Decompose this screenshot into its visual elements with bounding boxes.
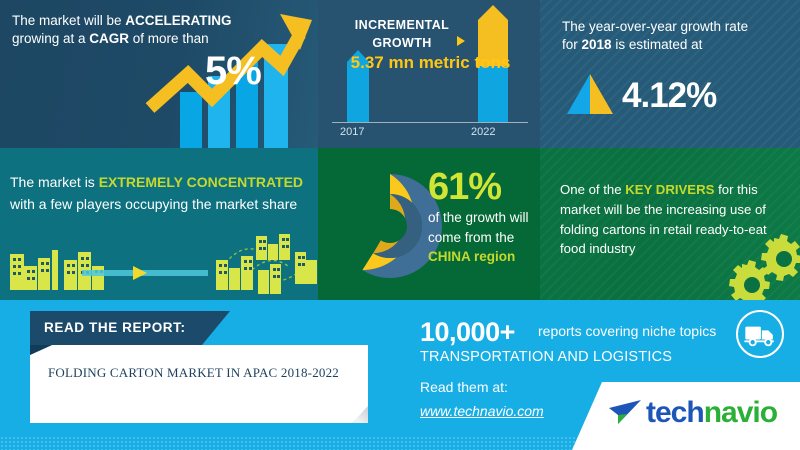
cagr-line1-pre: The market will be (12, 13, 125, 28)
logo-text-tech: tech (646, 396, 704, 429)
yoy-description: The year-over-year growth rate for 2018 … (562, 18, 790, 54)
incremental-axis-line (332, 122, 528, 123)
truck-icon (736, 310, 784, 358)
report-category: TRANSPORTATION AND LOGISTICS (420, 348, 672, 368)
panel-china-share: 61% of the growth will come from the CHI… (318, 148, 540, 300)
incremental-title-line1: INCREMENTAL (355, 18, 449, 32)
panel-cagr: The market will be ACCELERATING growing … (0, 0, 318, 148)
cagr-line1-bold: ACCELERATING (125, 13, 231, 28)
china-line1: of the growth will (428, 210, 529, 225)
yoy-line2-post: is estimated at (612, 37, 703, 52)
yoy-line2-bold: 2018 (582, 37, 612, 52)
incremental-end-year: 2022 (471, 126, 495, 138)
panel-yoy-growth: The year-over-year growth rate for 2018 … (540, 0, 800, 148)
cagr-description: The market will be ACCELERATING growing … (12, 12, 262, 48)
incremental-start-year: 2017 (340, 126, 364, 138)
yoy-line1: The year-over-year growth rate (562, 19, 748, 34)
incremental-title: INCREMENTAL GROWTH (332, 16, 472, 52)
cagr-value: 5% (205, 44, 261, 98)
transition-arrow-head (133, 266, 147, 280)
concentration-description: The market is EXTREMELY CONCENTRATED wit… (10, 172, 308, 215)
logo-text-navio: navio (704, 396, 777, 429)
yoy-line2-pre: for (562, 37, 582, 52)
panel-market-concentration: The market is EXTREMELY CONCENTRATED wit… (0, 148, 318, 300)
paper-plane-icon (608, 398, 642, 428)
concentration-pre: The market is (10, 174, 99, 190)
gears-icon (716, 232, 800, 300)
cagr-line2-bold: CAGR (89, 31, 129, 46)
triangle-marker-icon (457, 36, 465, 46)
website-link[interactable]: www.technavio.com (420, 402, 544, 421)
report-card[interactable] (30, 345, 368, 423)
driver-pre: One of the (560, 182, 625, 197)
donut-hole (373, 209, 407, 243)
incremental-title-line2: GROWTH (372, 36, 431, 50)
technavio-wordmark: technavio (646, 396, 777, 430)
reports-count: 10,000+ (420, 314, 515, 350)
cagr-line2-post: of more than (129, 31, 209, 46)
read-them-at-label: Read them at: (420, 378, 508, 397)
panel-footer: READ THE REPORT: FOLDING CARTON MARKET I… (0, 300, 800, 450)
growth-triangle-icon (567, 74, 613, 114)
technavio-logo[interactable]: technavio (608, 396, 777, 430)
china-line2: come from the (428, 230, 514, 245)
china-share-value: 61% (428, 162, 501, 213)
panel-key-drivers: One of the KEY DRIVERS for this market w… (540, 148, 800, 300)
ribbon-label: READ THE REPORT: (44, 319, 186, 337)
concentration-highlight: EXTREMELY CONCENTRATED (99, 174, 303, 190)
china-share-description: of the growth will come from the CHINA r… (428, 208, 540, 267)
driver-highlight: KEY DRIVERS (625, 182, 714, 197)
concentration-post: with a few players occupying the market … (10, 196, 297, 212)
panel-incremental-growth: INCREMENTAL GROWTH 5.37 mn metric tons 2… (318, 0, 540, 148)
yoy-value: 4.12% (622, 72, 716, 119)
infographic-canvas: The market will be ACCELERATING growing … (0, 0, 800, 450)
china-region-label: CHINA region (428, 249, 515, 264)
reports-count-subtitle: reports covering niche topics (538, 322, 716, 341)
report-title[interactable]: FOLDING CARTON MARKET IN APAC 2018-2022 (48, 364, 358, 382)
buildings-right-cluster (216, 234, 317, 294)
market-consolidation-diagram (0, 230, 318, 300)
cagr-line2-pre: growing at a (12, 31, 89, 46)
incremental-value: 5.37 mn metric tons (328, 52, 533, 75)
